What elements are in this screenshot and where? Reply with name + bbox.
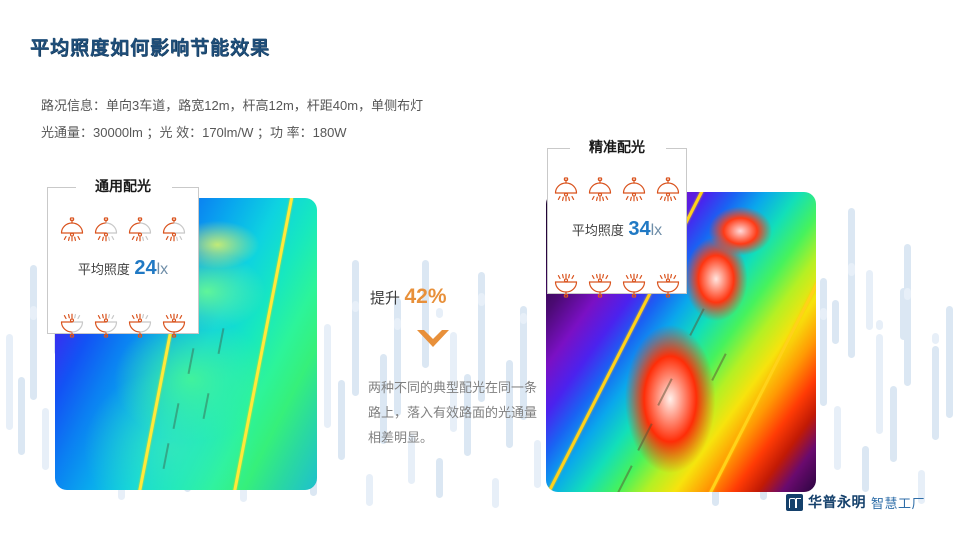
decor-bar (904, 244, 911, 386)
avg-label: 平均照度 (572, 223, 624, 238)
comparison-caption: 两种不同的典型配光在同一条路上，落入有效路面的光通量相差明显。 (368, 375, 540, 450)
lamp-icon (586, 176, 614, 202)
lamp-icon (126, 287, 154, 313)
decor-bar (30, 306, 37, 320)
lamp-icon (586, 247, 614, 273)
lane-dash (637, 423, 652, 450)
road-edge-line (671, 192, 816, 492)
decor-bar (932, 333, 939, 344)
avg-label: 平均照度 (78, 262, 130, 277)
decor-bar (6, 334, 13, 430)
lamp-icon (160, 216, 188, 242)
decor-bar (42, 408, 49, 470)
decor-bar (18, 377, 25, 455)
lamp-icon (552, 176, 580, 202)
lane-dash (657, 378, 672, 405)
lamp-icon (92, 287, 120, 313)
info-line-2: 光通量：30000lm ；光 效：170lm/W ；功 率：180W (41, 119, 423, 146)
chevron-down-icon (415, 327, 451, 356)
lamp-icon (92, 216, 120, 242)
decor-bar (352, 260, 359, 396)
decor-bar (932, 346, 939, 440)
lamp-row-top-general (47, 216, 199, 242)
brand-name: 华普永明 (808, 492, 866, 512)
road-edge-line (219, 198, 304, 490)
avg-unit: lx (157, 261, 169, 278)
card-title-precise: 精准配光 (547, 137, 687, 157)
uplift-stat: 提升 42% (370, 285, 447, 309)
lamp-icon (654, 176, 682, 202)
slide-canvas: 平均照度如何影响节能效果 路况信息：单向3车道，路宽12m，杆高12m，杆距40… (0, 0, 960, 540)
decor-bar (324, 324, 331, 428)
decor-bar (904, 288, 911, 300)
lamp-row-top-precise (547, 176, 687, 202)
lamp-icon (654, 247, 682, 273)
lane-dash (711, 353, 726, 380)
factory-mark-icon (786, 494, 803, 511)
spec-card-precise: 精准配光 (547, 148, 687, 294)
uplift-label: 提升 (370, 290, 400, 307)
page-title: 平均照度如何影响节能效果 (30, 33, 270, 60)
spec-card-general: 通用配光 (47, 187, 199, 334)
avg-value: 24 (134, 257, 156, 279)
decor-bar (436, 308, 443, 318)
decor-bar (834, 406, 841, 470)
avg-illuminance-precise: 平均照度 34lx (547, 218, 687, 241)
lamp-row-bottom-precise (547, 247, 687, 273)
decor-bar (366, 474, 373, 506)
decor-bar (30, 265, 37, 400)
decor-bar (848, 263, 855, 276)
avg-illuminance-general: 平均照度 24lx (47, 257, 199, 280)
decor-bar (866, 270, 873, 330)
lane-dash (163, 443, 169, 469)
decor-bar (820, 308, 827, 320)
decor-bar (352, 301, 359, 312)
decor-bar (862, 446, 869, 492)
lamp-icon (620, 247, 648, 273)
lamp-icon (58, 216, 86, 242)
decor-bar (478, 293, 485, 306)
decor-bar (900, 288, 907, 340)
avg-value: 34 (628, 218, 650, 240)
lamp-icon (620, 176, 648, 202)
decor-bar (848, 208, 855, 358)
lane-dash (173, 403, 179, 429)
decor-bar (876, 334, 883, 434)
road-info-block: 路况信息：单向3车道，路宽12m，杆高12m，杆距40m，单侧布灯 光通量：30… (41, 92, 423, 146)
lane-dash (617, 465, 632, 492)
lamp-icon (126, 216, 154, 242)
decor-bar (946, 306, 953, 418)
lamp-row-bottom-general (47, 287, 199, 313)
brand-sub: 智慧工厂 (871, 493, 925, 512)
decor-bar (394, 318, 401, 330)
avg-unit: lx (651, 222, 663, 239)
decor-bar (492, 478, 499, 508)
brand-logo: 华普永明 智慧工厂 (786, 492, 925, 512)
lamp-icon (552, 247, 580, 273)
decor-bar (832, 300, 839, 344)
decor-bar (820, 278, 827, 406)
decor-bar (890, 386, 897, 462)
info-line-1: 路况信息：单向3车道，路宽12m，杆高12m，杆距40m，单侧布灯 (41, 92, 423, 119)
lamp-icon (160, 287, 188, 313)
decor-bar (876, 320, 883, 330)
lane-dash (203, 393, 209, 419)
lane-dash (689, 308, 704, 335)
lane-dash (188, 348, 194, 374)
lane-dash (218, 328, 224, 354)
decor-bar (338, 380, 345, 460)
decor-bar (436, 458, 443, 498)
card-title-general: 通用配光 (47, 176, 199, 196)
lamp-icon (58, 287, 86, 313)
uplift-value: 42% (404, 285, 446, 308)
decor-bar (520, 313, 527, 324)
